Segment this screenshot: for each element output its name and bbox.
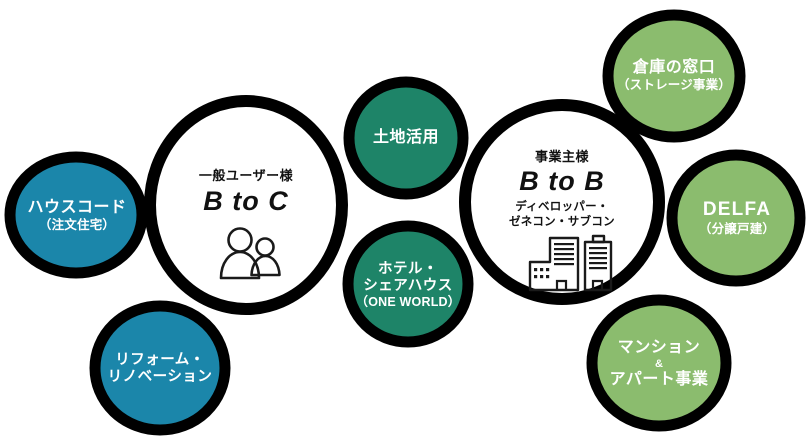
node-circle-delfa[interactable] (672, 155, 800, 281)
node-circle-land-use[interactable] (349, 82, 463, 194)
node-circle-hotel-share[interactable] (348, 226, 468, 342)
node-circle-reform[interactable] (95, 306, 225, 430)
node-circle-b-to-b[interactable] (465, 105, 659, 299)
business-domain-diagram: ハウスコード （注文住宅） 一般ユーザー様 B to C リフォーム・ リノベー… (0, 0, 810, 440)
diagram-canvas (0, 0, 810, 440)
node-circle-mansion[interactable] (592, 300, 726, 426)
node-circle-house-code[interactable] (10, 157, 142, 273)
node-circle-warehouse[interactable] (608, 15, 740, 137)
